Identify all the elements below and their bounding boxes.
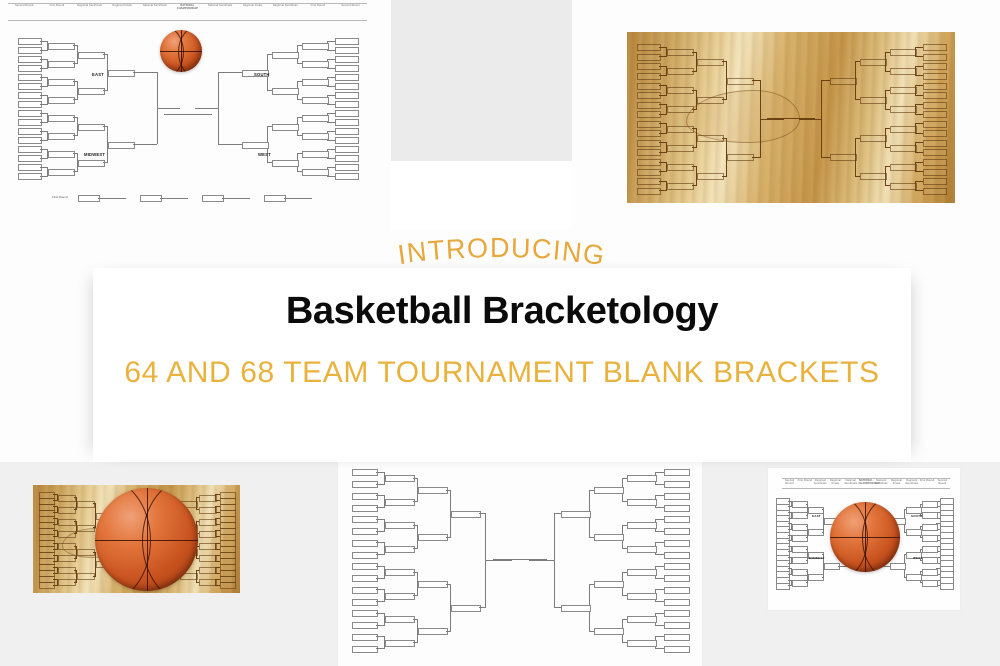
bracket-slot [199,567,217,574]
bracket-slot [860,97,887,104]
bracket-line [327,95,335,96]
bracket-line [554,513,555,607]
bracket-line [554,513,561,514]
bracket-slot [627,499,657,506]
bracket-slot [385,640,415,647]
bracket-slot [664,493,690,500]
bracket-slot [108,142,135,149]
round-header: First Round [919,479,934,482]
bracket-slot [923,54,947,61]
bracket-slot [385,569,415,576]
bracket-slot [302,43,329,50]
play-in-line [222,198,250,199]
bracket-slot [352,505,378,512]
bracket-slot [58,519,76,526]
bracket-slot [302,79,329,86]
bracket-line [920,537,922,538]
bracket-slot [923,102,947,109]
bracket-line [655,625,664,626]
bracket-slot [18,74,42,81]
bracket-slot [637,92,661,99]
bracket-slot [890,87,917,94]
bracket-slot [792,535,808,542]
region-label-south: SOUTH [254,72,270,77]
bracket-slot [302,97,329,104]
bracket-line [885,109,890,110]
bracket-slot [923,188,947,195]
bracket-slot [335,83,359,90]
bracket-slot [335,101,359,108]
bracket-slot [792,512,808,519]
bracket-slot [48,97,75,104]
bracket-slot [664,610,690,617]
bracket-line [413,501,418,502]
bracket-slot [108,70,135,77]
eyebrow-char: R [446,233,469,266]
bracket-line [554,607,561,608]
bracket-slot [77,549,95,556]
bracket-slot [58,543,76,550]
basketball-icon [95,488,198,591]
bracket-line [885,147,890,148]
bracket-line [821,80,822,157]
bracket-line [655,472,664,473]
bracket-image-64-team-blank[interactable] [338,452,702,666]
round-header: Regional Semifinals [269,4,301,7]
bracket-slot [664,505,690,512]
bracket-slot [637,44,661,51]
bracket-line [327,122,335,123]
bracket-slot [335,137,359,144]
bracket-slot [637,102,661,109]
bracket-slot [18,146,42,153]
bracket-line [655,531,664,532]
bracket-line [915,104,923,105]
bracket-slot [637,121,661,128]
bracket-slot [199,519,217,526]
bracket-line [74,533,77,534]
bracket-slot [352,622,378,629]
page-subtitle: 64 AND 68 TEAM TOURNAMENT BLANK BRACKETS [93,356,911,390]
bracket-slot [302,61,329,68]
round-header: Second Round [8,4,40,7]
bracket-slot [667,68,694,75]
bracket-slot [664,528,690,535]
region-label-east: EAST [812,514,821,518]
bracket-slot [77,573,95,580]
bracket-slot [335,173,359,180]
bracket-slot [697,59,724,66]
bracket-slot [242,142,269,149]
bracket-line [915,162,923,163]
bracket-line [915,95,923,96]
bracket-line [692,71,697,72]
bracket-line [622,595,627,596]
bracket-slot [561,511,591,518]
bracket-line [904,577,906,578]
bracket-slot [48,151,75,158]
bracket-slot [792,569,808,576]
bracket-slot [18,164,42,171]
bracket-line [806,560,808,561]
bracket-slot [792,546,808,553]
intro-banner: INTRODUCING Basketball Bracketology 64 A… [93,268,911,462]
bracket-slot [58,507,76,514]
eyebrow-char: U [511,233,533,265]
bracket-line [659,152,667,153]
round-header: Second Round [935,479,950,485]
bracket-line [327,158,335,159]
bracket-slot [922,580,938,587]
bracket-line [655,566,664,567]
bracket-line [327,140,335,141]
bracket-line [821,157,830,158]
bracket-slot [58,495,76,502]
bracket-line [327,86,335,87]
bracket-line [589,537,594,538]
bracket-line [915,181,923,182]
page-title: Basketball Bracketology [93,290,911,333]
bracket-slot [906,507,922,514]
bracket-slot [272,52,299,59]
bracket-line [915,171,923,172]
bracket-slot [627,569,657,576]
bracket-line [659,95,667,96]
bracket-slot [385,593,415,600]
bracket-line [659,133,667,134]
bracket-image-wood-64-with-basketball[interactable] [33,485,240,593]
bracket-slot [667,145,694,152]
bracket-slot [58,531,76,538]
bracket-slot [664,481,690,488]
bracket-slot [890,126,917,133]
bracket-slot [352,469,378,476]
bracket-slot [48,79,75,86]
bracket-slot [48,133,75,140]
bracket-slot [906,574,922,581]
bracket-line [73,135,78,136]
bracket-line [376,601,385,602]
bracket-slot [627,640,657,647]
bracket-slot [664,587,690,594]
bracket-slot [923,44,947,51]
round-header: Second Round [334,4,366,7]
bracket-slot [302,115,329,122]
bracket-line [40,176,48,177]
header-rule-bottom [8,20,367,21]
bracket-slot [637,178,661,185]
bracket-line [327,59,335,60]
bracket-slot [792,557,808,564]
bracket-line [376,578,385,579]
bracket-slot [667,106,694,113]
bracket-line [376,507,385,508]
bracket-slot [199,555,217,562]
bracket-line [446,631,451,632]
bracket-slot [594,487,624,494]
bracket-image-68-team-printable[interactable]: Second Round First Round Regional Semifi… [0,0,375,228]
round-header: Regional Semifinals [813,479,828,485]
bracket-slot [18,101,42,108]
bracket-slot [352,563,378,570]
bracket-line [74,582,77,583]
bracket-slot [78,160,105,167]
bracket-line [885,185,890,186]
play-in-slot [202,195,224,202]
bracket-slot [664,552,690,559]
bracket-slot [199,495,217,502]
bracket-slot [922,512,938,519]
region-label-south: SOUTH [911,514,923,518]
bracket-slot [352,493,378,500]
bracket-line [622,501,627,502]
bracket-line [622,642,627,643]
bracket-line [655,589,664,590]
bracket-line [659,171,667,172]
bracket-slot [48,169,75,176]
bracket-slot [664,469,690,476]
bracket-line [692,147,697,148]
round-header: National Semifinals [843,479,858,485]
bracket-line [413,642,418,643]
bracket-slot [664,516,690,523]
round-header-championship: NATIONAL CHAMPIONSHIP [858,479,873,485]
bracket-line [40,86,48,87]
poster-canvas: Second Round First Round Regional Semifi… [0,0,1000,666]
bracket-slot [335,38,359,45]
bracket-slot [860,135,887,142]
bracket-slot [18,128,42,135]
bracket-line [722,176,727,177]
bracket-slot [335,65,359,72]
basketball-icon [160,30,202,72]
bracket-slot [18,56,42,63]
bracket-slot [923,178,947,185]
bracket-slot [352,540,378,547]
bracket-slot [58,579,76,586]
bracket-line [885,71,890,72]
eyebrow-char: C [531,233,554,266]
play-in-slot [264,195,286,202]
bracket-line [655,484,664,485]
bracket-line [195,108,218,109]
bracket-line [479,607,486,608]
bracket-image-68-team-thumbnail[interactable]: Second Round First Round Regional Semifi… [768,468,960,610]
bracket-slot [627,593,657,600]
bracket-slot [697,97,724,104]
bracket-slot [890,68,917,75]
bracket-slot [923,149,947,156]
bracket-line [915,85,923,86]
bracket-line [692,109,697,110]
bracket-line [722,99,727,100]
bracket-slot [727,154,754,161]
bracket-line [915,75,923,76]
bracket-line [822,532,824,533]
round-header-row: Second Round First Round Regional Semifi… [782,479,950,488]
bracket-slot [594,628,624,635]
bracket-slot [78,52,105,59]
bracket-slot [58,555,76,562]
bracket-line [297,63,302,64]
bracket-image-wood-64-team[interactable] [627,32,955,203]
bracket-line [267,90,272,91]
bracket-line [376,554,385,555]
bracket-slot [48,43,75,50]
bracket-slot [335,155,359,162]
bracket-slot [335,110,359,117]
play-in-line [98,198,126,199]
bracket-slot [335,146,359,153]
bracket-line [327,41,335,42]
bracket-slot [923,140,947,147]
bracket-slot [385,616,415,623]
bracket-slot [352,516,378,523]
bracket-slot [18,38,42,45]
bracket-slot [940,583,954,590]
bracket-line [133,72,157,73]
bracket-line [821,80,830,81]
bracket-slot [792,501,808,508]
image-placeholder-gray [391,0,572,161]
bracket-slot [830,154,857,161]
bracket-line [40,140,48,141]
bracket-slot [302,133,329,140]
bracket-slot [637,140,661,147]
play-in-label: First Round [52,196,68,199]
bracket-slot [352,575,378,582]
bracket-slot [199,531,217,538]
round-header: Regional Finals [889,479,904,485]
bracket-slot [48,61,75,68]
bracket-slot [890,164,917,171]
bracket-line [327,104,335,105]
bracket-line [327,77,335,78]
bracket-slot [594,581,624,588]
play-in-line [284,198,312,199]
bracket-line [40,104,48,105]
bracket-line [327,149,335,150]
header-rule-bottom [782,488,950,489]
bracket-slot [272,124,299,131]
bracket-slot [18,155,42,162]
bracket-slot [727,78,754,85]
bracket-slot [18,92,42,99]
bracket-slot [418,628,448,635]
bracket-slot [39,582,55,589]
bracket-line [822,577,824,578]
eyebrow-char: D [490,233,511,265]
bracket-line [655,495,664,496]
bracket-line [799,119,822,120]
bracket-slot [860,173,887,180]
bracket-slot [352,552,378,559]
bracket-slot [199,543,217,550]
bracket-line [413,548,418,549]
bracket-line [655,542,664,543]
bracket-slot [922,569,938,576]
bracket-line [806,515,808,516]
bracket-slot [418,534,448,541]
bracket-line [267,162,272,163]
bracket-line [655,613,664,614]
bracket-line [103,90,108,91]
bracket-slot [664,634,690,641]
bracket-line [692,185,697,186]
bracket-line [158,108,181,109]
bracket-line [806,537,808,538]
round-header: Second Round [782,479,797,485]
bracket-slot [890,183,917,190]
bracket-slot [637,169,661,176]
bracket-slot [922,535,938,542]
bracket-slot [637,159,661,166]
bracket-line [327,50,335,51]
bracket-line [915,190,923,191]
bracket-slot [808,507,824,514]
bracket-slot [923,130,947,137]
play-in-slot [140,195,162,202]
bracket-line [655,648,664,649]
region-label-east: EAST [92,72,104,77]
bracket-slot [335,56,359,63]
bracket-line [297,171,302,172]
round-header: Regional Finals [237,4,269,7]
bracket-slot [637,130,661,137]
bracket-slot [667,183,694,190]
bracket-slot [385,522,415,529]
bracket-slot [637,149,661,156]
bracket-line [493,559,547,560]
round-header: First Round [41,4,73,7]
bracket-line [218,72,242,73]
bracket-slot [335,164,359,171]
bracket-slot [922,524,938,531]
bracket-slot [664,622,690,629]
bracket-line [767,118,815,119]
region-label-west: WEST [913,556,922,560]
bracket-slot [664,563,690,570]
bracket-slot [890,106,917,113]
bracket-line [920,560,922,561]
bracket-line [659,190,667,191]
bracket-line [915,142,923,143]
bracket-slot [922,546,938,553]
bracket-line [655,601,664,602]
bracket-slot [335,128,359,135]
bracket-slot [830,78,857,85]
bracket-line [376,625,385,626]
bracket-slot [664,540,690,547]
bracket-line [622,548,627,549]
bracket-line [73,171,78,172]
bracket-slot [697,135,724,142]
round-header: National Semifinals [139,4,171,7]
bracket-slot [808,529,824,536]
bracket-slot [923,121,947,128]
bracket-line [218,144,242,145]
bracket-slot [664,646,690,653]
bracket-slot [627,616,657,623]
bracket-line [40,158,48,159]
bracket-line [133,144,157,145]
bracket-slot [58,567,76,574]
bracket-slot [78,124,105,131]
bracket-slot [385,499,415,506]
bracket-slot [923,63,947,70]
bracket-line [73,99,78,100]
bracket-slot [792,580,808,587]
